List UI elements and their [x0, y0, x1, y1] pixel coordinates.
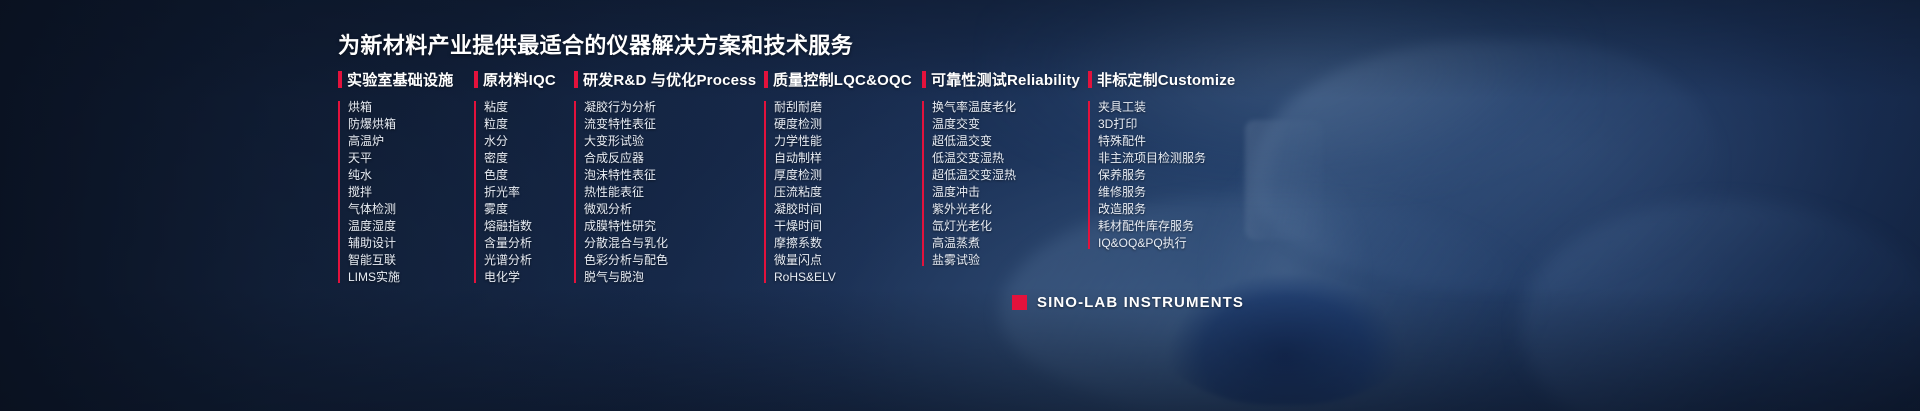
list-item[interactable]: 色度: [484, 167, 574, 184]
column-header: 实验室基础设施: [338, 68, 474, 90]
service-category-columns: 实验室基础设施 烘箱 防爆烘箱 高温炉 天平 纯水 搅拌 气体检测 温度湿度 辅…: [338, 68, 1268, 286]
accent-bar-icon: [338, 71, 342, 88]
list-item[interactable]: 泡沫特性表征: [584, 167, 764, 184]
list-item[interactable]: 熔融指数: [484, 218, 574, 235]
column-item-list: 换气率温度老化 温度交变 超低温交变 低温交变湿热 超低温交变湿热 温度冲击 紫…: [922, 99, 1088, 269]
list-item[interactable]: 耐刮耐磨: [774, 99, 922, 116]
accent-bar-icon: [922, 71, 926, 88]
list-item[interactable]: 水分: [484, 133, 574, 150]
column-header: 原材料IQC: [474, 68, 574, 90]
list-item[interactable]: 3D打印: [1098, 116, 1268, 133]
list-item[interactable]: 天平: [348, 150, 474, 167]
list-item[interactable]: 电化学: [484, 269, 574, 286]
list-item[interactable]: 光谱分析: [484, 252, 574, 269]
column-header-label: 质量控制LQC&OQC: [773, 69, 912, 90]
column-item-list: 粘度 粒度 水分 密度 色度 折光率 雾度 熔融指数 含量分析 光谱分析 电化学: [474, 99, 574, 286]
list-item[interactable]: 低温交变湿热: [932, 150, 1088, 167]
list-item[interactable]: 凝胶时间: [774, 201, 922, 218]
service-column-lab-infrastructure: 实验室基础设施 烘箱 防爆烘箱 高温炉 天平 纯水 搅拌 气体检测 温度湿度 辅…: [338, 68, 474, 286]
list-item[interactable]: 粒度: [484, 116, 574, 133]
list-item[interactable]: RoHS&ELV: [774, 269, 922, 286]
list-item[interactable]: 改造服务: [1098, 201, 1268, 218]
accent-bar-icon: [764, 71, 768, 88]
list-item[interactable]: 辅助设计: [348, 235, 474, 252]
red-square-mark-icon: [1012, 295, 1027, 310]
list-item[interactable]: 高温炉: [348, 133, 474, 150]
list-item[interactable]: 密度: [484, 150, 574, 167]
list-item[interactable]: 高温蒸煮: [932, 235, 1088, 252]
list-item[interactable]: 大变形试验: [584, 133, 764, 150]
accent-bar-icon: [574, 71, 578, 88]
list-item[interactable]: 温度湿度: [348, 218, 474, 235]
column-header-label: 可靠性测试Reliability: [931, 69, 1080, 90]
list-item[interactable]: 分散混合与乳化: [584, 235, 764, 252]
list-item[interactable]: 成膜特性研究: [584, 218, 764, 235]
list-item[interactable]: 厚度检测: [774, 167, 922, 184]
list-item[interactable]: 凝胶行为分析: [584, 99, 764, 116]
brand-name: SINO-LAB INSTRUMENTS: [1037, 294, 1244, 311]
service-column-reliability: 可靠性测试Reliability 换气率温度老化 温度交变 超低温交变 低温交变…: [922, 68, 1088, 269]
list-item[interactable]: 换气率温度老化: [932, 99, 1088, 116]
list-item[interactable]: 非主流项目检测服务: [1098, 150, 1268, 167]
column-header-label: 研发R&D 与优化Process: [583, 69, 756, 90]
brand-logo: SINO-LAB INSTRUMENTS: [1012, 294, 1244, 311]
list-item[interactable]: 紫外光老化: [932, 201, 1088, 218]
list-item[interactable]: 耗材配件库存服务: [1098, 218, 1268, 235]
service-column-customize: 非标定制Customize 夹具工装 3D打印 特殊配件 非主流项目检测服务 保…: [1088, 68, 1268, 252]
list-item[interactable]: 超低温交变湿热: [932, 167, 1088, 184]
list-item[interactable]: 色彩分析与配色: [584, 252, 764, 269]
list-item[interactable]: 盐雾试验: [932, 252, 1088, 269]
column-item-list: 夹具工装 3D打印 特殊配件 非主流项目检测服务 保养服务 维修服务 改造服务 …: [1088, 99, 1268, 252]
list-item[interactable]: 合成反应器: [584, 150, 764, 167]
column-header: 研发R&D 与优化Process: [574, 68, 764, 90]
list-item[interactable]: 微量闪点: [774, 252, 922, 269]
list-item[interactable]: 自动制样: [774, 150, 922, 167]
list-item[interactable]: 热性能表征: [584, 184, 764, 201]
column-header: 质量控制LQC&OQC: [764, 68, 922, 90]
list-item[interactable]: 温度冲击: [932, 184, 1088, 201]
list-item[interactable]: 烘箱: [348, 99, 474, 116]
column-item-list: 凝胶行为分析 流变特性表征 大变形试验 合成反应器 泡沫特性表征 热性能表征 微…: [574, 99, 764, 286]
list-item[interactable]: 粘度: [484, 99, 574, 116]
list-item[interactable]: 脱气与脱泡: [584, 269, 764, 286]
column-item-list: 烘箱 防爆烘箱 高温炉 天平 纯水 搅拌 气体检测 温度湿度 辅助设计 智能互联…: [338, 99, 474, 286]
list-item[interactable]: 硬度检测: [774, 116, 922, 133]
list-item[interactable]: 气体检测: [348, 201, 474, 218]
service-column-rnd-process: 研发R&D 与优化Process 凝胶行为分析 流变特性表征 大变形试验 合成反…: [574, 68, 764, 286]
list-item[interactable]: 温度交变: [932, 116, 1088, 133]
accent-bar-icon: [474, 71, 478, 88]
list-item[interactable]: 压流粘度: [774, 184, 922, 201]
list-item[interactable]: 流变特性表征: [584, 116, 764, 133]
list-item[interactable]: 搅拌: [348, 184, 474, 201]
list-item[interactable]: 微观分析: [584, 201, 764, 218]
column-header: 非标定制Customize: [1088, 68, 1268, 90]
column-header-label: 原材料IQC: [483, 69, 556, 90]
column-header-label: 非标定制Customize: [1097, 69, 1235, 90]
list-item[interactable]: 防爆烘箱: [348, 116, 474, 133]
page-title: 为新材料产业提供最适合的仪器解决方案和技术服务: [338, 28, 853, 60]
list-item[interactable]: 干燥时间: [774, 218, 922, 235]
list-item[interactable]: IQ&OQ&PQ执行: [1098, 235, 1268, 252]
column-header: 可靠性测试Reliability: [922, 68, 1088, 90]
list-item[interactable]: 超低温交变: [932, 133, 1088, 150]
list-item[interactable]: 纯水: [348, 167, 474, 184]
list-item[interactable]: LIMS实施: [348, 269, 474, 286]
accent-bar-icon: [1088, 71, 1092, 88]
service-column-raw-material-iqc: 原材料IQC 粘度 粒度 水分 密度 色度 折光率 雾度 熔融指数 含量分析 光…: [474, 68, 574, 286]
list-item[interactable]: 折光率: [484, 184, 574, 201]
list-item[interactable]: 含量分析: [484, 235, 574, 252]
list-item[interactable]: 氙灯光老化: [932, 218, 1088, 235]
list-item[interactable]: 特殊配件: [1098, 133, 1268, 150]
list-item[interactable]: 雾度: [484, 201, 574, 218]
list-item[interactable]: 力学性能: [774, 133, 922, 150]
column-item-list: 耐刮耐磨 硬度检测 力学性能 自动制样 厚度检测 压流粘度 凝胶时间 干燥时间 …: [764, 99, 922, 286]
promo-banner: 为新材料产业提供最适合的仪器解决方案和技术服务 实验室基础设施 烘箱 防爆烘箱 …: [0, 0, 1920, 411]
column-header-label: 实验室基础设施: [347, 69, 453, 90]
list-item[interactable]: 智能互联: [348, 252, 474, 269]
list-item[interactable]: 摩擦系数: [774, 235, 922, 252]
list-item[interactable]: 保养服务: [1098, 167, 1268, 184]
list-item[interactable]: 夹具工装: [1098, 99, 1268, 116]
service-column-quality-control: 质量控制LQC&OQC 耐刮耐磨 硬度检测 力学性能 自动制样 厚度检测 压流粘…: [764, 68, 922, 286]
list-item[interactable]: 维修服务: [1098, 184, 1268, 201]
